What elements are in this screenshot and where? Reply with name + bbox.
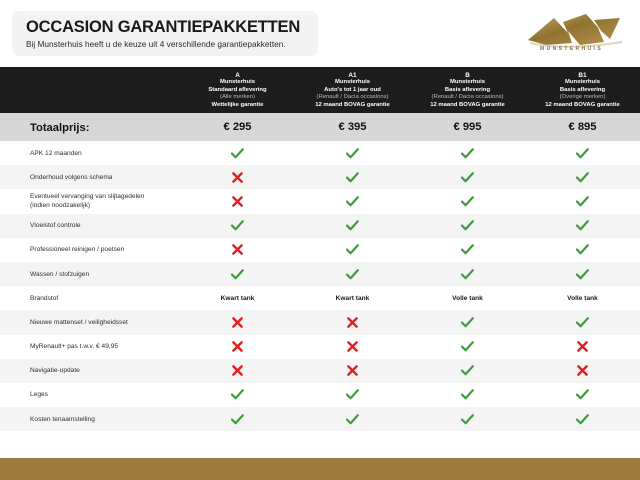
feature-value-cell xyxy=(525,414,640,425)
price-value: € 295 xyxy=(224,121,252,133)
feature-label: Brandstof xyxy=(30,294,174,303)
feature-label: Onderhoud volgens schema xyxy=(30,173,174,182)
cross-icon xyxy=(232,317,243,328)
column-scope: (Renault / Dacia occasions) xyxy=(316,94,388,102)
feature-label: APK 12 maanden xyxy=(30,149,174,158)
check-icon xyxy=(346,172,359,183)
feature-value-cell xyxy=(410,220,525,231)
feature-value-cell xyxy=(295,414,410,425)
feature-value-cell xyxy=(525,269,640,280)
feature-label: MyRenault+ pas t.w.v. € 49,95 xyxy=(30,342,174,351)
header-empty-cell xyxy=(0,67,180,113)
feature-label-cell: Professioneel reinigen / poetsen xyxy=(0,245,180,254)
column-brand: Munsterhuis xyxy=(450,79,485,87)
check-icon xyxy=(576,244,589,255)
check-icon xyxy=(346,414,359,425)
cross-icon xyxy=(232,341,243,352)
feature-value-cell xyxy=(180,269,295,280)
feature-value-cell xyxy=(295,269,410,280)
column-warranty: Wettelijke garantie xyxy=(212,102,264,110)
feature-value-cell xyxy=(180,389,295,400)
feature-value-cell xyxy=(180,317,295,328)
feature-label: Nieuwe mattenset / veiligheidsset xyxy=(30,318,174,327)
feature-value-cell xyxy=(180,220,295,231)
cross-icon xyxy=(347,317,358,328)
feature-value-cell xyxy=(180,365,295,376)
table-row: Leges xyxy=(0,383,640,407)
check-icon xyxy=(461,172,474,183)
column-code: A1 xyxy=(348,72,356,80)
check-icon xyxy=(346,389,359,400)
feature-label: Eventueel vervanging van slijtagedelen xyxy=(30,192,174,201)
munsterhuis-logo: MUNSTERHUIS xyxy=(524,12,628,54)
feature-value-cell xyxy=(525,317,640,328)
feature-value-cell xyxy=(295,148,410,159)
feature-label-cell: Brandstof xyxy=(0,294,180,303)
table-row: Eventueel vervanging van slijtagedelen(i… xyxy=(0,189,640,213)
feature-label: Navigatie-update xyxy=(30,366,174,375)
check-icon xyxy=(461,220,474,231)
total-price-label: Totaalprijs: xyxy=(30,122,89,134)
feature-value-cell xyxy=(410,414,525,425)
feature-label: Kosten tenaamstelling xyxy=(30,415,174,424)
table-row: Onderhoud volgens schema xyxy=(0,165,640,189)
feature-value-cell xyxy=(525,148,640,159)
price-value: € 395 xyxy=(339,121,367,133)
column-warranty: 12 maand BOVAG garantie xyxy=(430,102,505,110)
check-icon xyxy=(346,269,359,280)
feature-label-cell: Nieuwe mattenset / veiligheidsset xyxy=(0,318,180,327)
feature-label: Leges xyxy=(30,390,174,399)
feature-label-cell: Vloeistof controle xyxy=(0,221,180,230)
guarantee-packages-page: OCCASION GARANTIEPAKKETTEN Bij Munsterhu… xyxy=(0,0,640,480)
feature-value-cell xyxy=(410,148,525,159)
feature-value-text: Volle tank xyxy=(567,295,598,302)
feature-value-cell xyxy=(295,196,410,207)
column-code: A xyxy=(235,72,240,80)
check-icon xyxy=(461,244,474,255)
check-icon xyxy=(461,317,474,328)
feature-value-cell: Volle tank xyxy=(410,295,525,302)
check-icon xyxy=(231,148,244,159)
feature-value-cell: Kwart tank xyxy=(180,295,295,302)
cross-icon xyxy=(232,196,243,207)
column-brand: Munsterhuis xyxy=(335,79,370,87)
cross-icon xyxy=(347,341,358,352)
feature-value-cell xyxy=(525,244,640,255)
feature-label-cell: Wassen / stofzuigen xyxy=(0,270,180,279)
table-row: Nieuwe mattenset / veiligheidsset xyxy=(0,310,640,334)
feature-value-cell: Volle tank xyxy=(525,295,640,302)
price-cell-b1: € 895 xyxy=(525,121,640,133)
comparison-table: A Munsterhuis Standaard aflevering (Alle… xyxy=(0,67,640,431)
column-code: B xyxy=(465,72,470,80)
price-cell-a: € 295 xyxy=(180,121,295,133)
feature-value-cell xyxy=(295,365,410,376)
column-code: B1 xyxy=(578,72,586,80)
feature-label: Wassen / stofzuigen xyxy=(30,270,174,279)
feature-value-text: Kwart tank xyxy=(336,295,370,302)
cross-icon xyxy=(577,341,588,352)
check-icon xyxy=(576,269,589,280)
feature-value-cell: Kwart tank xyxy=(295,295,410,302)
feature-value-cell xyxy=(295,341,410,352)
column-header-a1: A1 Munsterhuis Auto's tot 1 jaar oud (Re… xyxy=(295,67,410,113)
feature-label-cell: Eventueel vervanging van slijtagedelen(i… xyxy=(0,192,180,210)
column-warranty: 12 maand BOVAG garantie xyxy=(315,102,390,110)
feature-value-cell xyxy=(410,172,525,183)
feature-value-cell xyxy=(180,172,295,183)
column-warranty: 12 maand BOVAG garantie xyxy=(545,102,620,110)
feature-value-cell xyxy=(525,196,640,207)
feature-label: Vloeistof controle xyxy=(30,221,174,230)
feature-value-cell xyxy=(180,341,295,352)
table-row: Vloeistof controle xyxy=(0,214,640,238)
table-row: Navigatie-update xyxy=(0,359,640,383)
cross-icon xyxy=(577,365,588,376)
cross-icon xyxy=(232,244,243,255)
check-icon xyxy=(231,220,244,231)
feature-value-cell xyxy=(410,317,525,328)
column-scope: (Overige merken) xyxy=(560,94,606,102)
column-header-a: A Munsterhuis Standaard aflevering (Alle… xyxy=(180,67,295,113)
feature-label-cell: Kosten tenaamstelling xyxy=(0,415,180,424)
cross-icon xyxy=(232,365,243,376)
logo-wordmark: MUNSTERHUIS xyxy=(540,46,603,52)
column-delivery: Auto's tot 1 jaar oud xyxy=(324,87,381,95)
feature-value-text: Volle tank xyxy=(452,295,483,302)
feature-label-cell: Leges xyxy=(0,390,180,399)
check-icon xyxy=(346,196,359,207)
feature-value-cell xyxy=(410,269,525,280)
table-row: MyRenault+ pas t.w.v. € 49,95 xyxy=(0,335,640,359)
table-header-row: A Munsterhuis Standaard aflevering (Alle… xyxy=(0,67,640,113)
check-icon xyxy=(346,148,359,159)
check-icon xyxy=(576,196,589,207)
page-title: OCCASION GARANTIEPAKKETTEN xyxy=(26,17,318,37)
feature-value-cell xyxy=(180,196,295,207)
feature-value-cell xyxy=(295,244,410,255)
check-icon xyxy=(576,148,589,159)
check-icon xyxy=(231,414,244,425)
column-delivery: Basis aflevering xyxy=(445,87,490,95)
check-icon xyxy=(461,414,474,425)
feature-value-cell xyxy=(525,341,640,352)
feature-value-cell xyxy=(525,365,640,376)
feature-value-cell xyxy=(180,244,295,255)
column-delivery: Basis aflevering xyxy=(560,87,605,95)
column-header-b: B Munsterhuis Basis aflevering (Renault … xyxy=(410,67,525,113)
check-icon xyxy=(346,220,359,231)
gold-footer-bar xyxy=(0,458,640,480)
feature-value-cell xyxy=(525,172,640,183)
feature-value-cell xyxy=(180,414,295,425)
check-icon xyxy=(231,389,244,400)
feature-value-cell xyxy=(295,317,410,328)
page-header: OCCASION GARANTIEPAKKETTEN Bij Munsterhu… xyxy=(0,0,640,67)
cross-icon xyxy=(232,172,243,183)
column-delivery: Standaard aflevering xyxy=(208,87,266,95)
feature-value-cell xyxy=(180,148,295,159)
feature-value-cell xyxy=(525,220,640,231)
feature-label-cell: Navigatie-update xyxy=(0,366,180,375)
table-row: Kosten tenaamstelling xyxy=(0,407,640,431)
table-row: BrandstofKwart tankKwart tankVolle tankV… xyxy=(0,286,640,310)
feature-label-cell: Onderhoud volgens schema xyxy=(0,173,180,182)
price-value: € 895 xyxy=(569,121,597,133)
feature-value-cell xyxy=(295,220,410,231)
check-icon xyxy=(461,269,474,280)
check-icon xyxy=(461,365,474,376)
feature-value-cell xyxy=(410,389,525,400)
total-price-row: Totaalprijs: € 295 € 395 € 995 € 895 xyxy=(0,113,640,141)
check-icon xyxy=(576,317,589,328)
feature-value-text: Kwart tank xyxy=(221,295,255,302)
price-cell-a1: € 395 xyxy=(295,121,410,133)
price-cell-b: € 995 xyxy=(410,121,525,133)
feature-value-cell xyxy=(410,196,525,207)
feature-value-cell xyxy=(410,341,525,352)
feature-value-cell xyxy=(525,389,640,400)
feature-label: Professioneel reinigen / poetsen xyxy=(30,245,174,254)
check-icon xyxy=(576,389,589,400)
table-row: Professioneel reinigen / poetsen xyxy=(0,238,640,262)
check-icon xyxy=(461,196,474,207)
feature-label-secondary: (indien noodzakelijk) xyxy=(30,201,174,210)
check-icon xyxy=(576,172,589,183)
column-header-b1: B1 Munsterhuis Basis aflevering (Overige… xyxy=(525,67,640,113)
check-icon xyxy=(231,269,244,280)
check-icon xyxy=(346,244,359,255)
title-card: OCCASION GARANTIEPAKKETTEN Bij Munsterhu… xyxy=(12,11,318,56)
column-brand: Munsterhuis xyxy=(565,79,600,87)
feature-label-cell: APK 12 maanden xyxy=(0,149,180,158)
check-icon xyxy=(576,414,589,425)
cross-icon xyxy=(347,365,358,376)
page-subtitle: Bij Munsterhuis heeft u de keuze uit 4 v… xyxy=(26,38,318,51)
table-row: APK 12 maanden xyxy=(0,141,640,165)
feature-rows-container: APK 12 maandenOnderhoud volgens schemaEv… xyxy=(0,141,640,431)
price-value: € 995 xyxy=(454,121,482,133)
column-scope: (Renault / Dacia occasions) xyxy=(431,94,503,102)
check-icon xyxy=(461,341,474,352)
column-scope: (Alle merken) xyxy=(220,94,255,102)
feature-label-cell: MyRenault+ pas t.w.v. € 49,95 xyxy=(0,342,180,351)
total-price-label-cell: Totaalprijs: xyxy=(0,118,180,136)
check-icon xyxy=(461,389,474,400)
feature-value-cell xyxy=(295,389,410,400)
check-icon xyxy=(461,148,474,159)
check-icon xyxy=(576,220,589,231)
feature-value-cell xyxy=(410,244,525,255)
column-brand: Munsterhuis xyxy=(220,79,255,87)
table-row: Wassen / stofzuigen xyxy=(0,262,640,286)
feature-value-cell xyxy=(295,172,410,183)
feature-value-cell xyxy=(410,365,525,376)
